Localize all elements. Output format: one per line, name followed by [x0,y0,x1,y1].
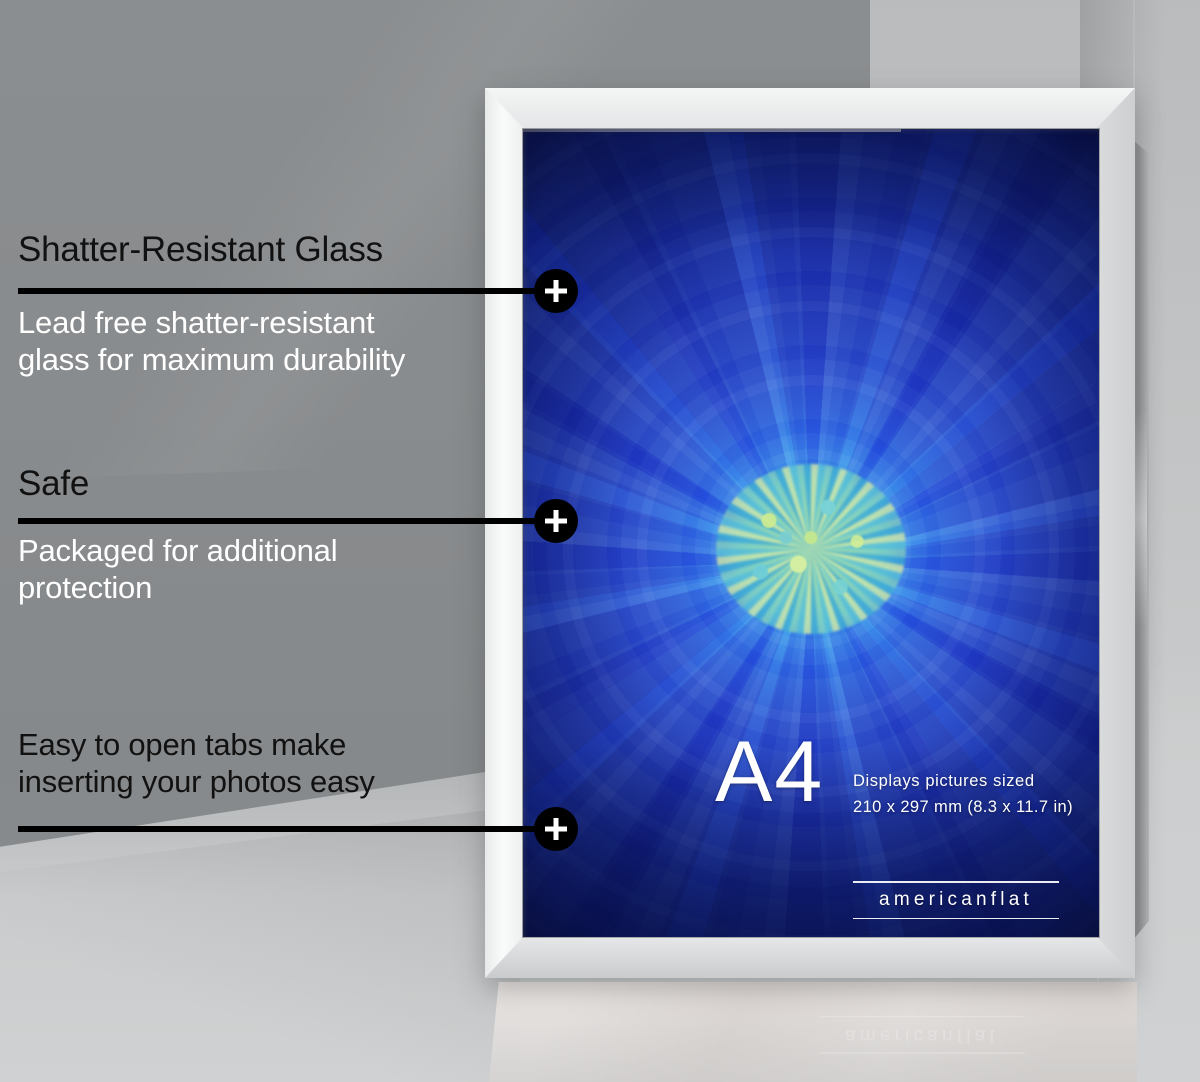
frame-inner-shadow [522,128,1100,938]
frame-bevel-bottom [485,936,1135,978]
callout-2-leader-line [18,518,558,524]
infographic-canvas: americanflat A4 [0,0,1200,1082]
frame-bevel-left [485,88,525,978]
callout-2-body-line-2: protection [18,570,337,607]
callout-1-body-line-2: glass for maximum durability [18,342,405,379]
callout-3-body-line-2: inserting your photos easy [18,764,375,801]
callout-1-plus-icon[interactable] [534,269,578,313]
frame-bevel-top [485,88,1135,130]
picture-frame: A4 Displays pictures sized 210 x 297 mm … [485,88,1140,978]
callout-safe: Safe [18,466,89,503]
callout-1-body: Lead free shatter-resistant glass for ma… [18,305,405,378]
frame-face: A4 Displays pictures sized 210 x 297 mm … [485,88,1135,978]
callout-shatter-resistant-glass: Shatter-Resistant Glass [18,232,383,269]
callout-1-heading: Shatter-Resistant Glass [18,232,383,269]
callout-1-leader-line [18,288,558,294]
callout-2-heading: Safe [18,466,89,503]
callout-3-leader-line [18,826,558,832]
callout-1-body-line-1: Lead free shatter-resistant [18,305,405,342]
callout-2-body-line-1: Packaged for additional [18,533,337,570]
callout-2-body: Packaged for additional protection [18,533,337,606]
callout-3-plus-icon[interactable] [534,807,578,851]
callout-2-plus-icon[interactable] [534,499,578,543]
callout-easy-open-tabs: Easy to open tabs make inserting your ph… [18,727,375,800]
frame-bevel-right [1095,88,1135,978]
callout-3-body-line-1: Easy to open tabs make [18,727,375,764]
reflection-fade [489,982,1137,1082]
frame-reflection: americanflat [489,982,1137,1082]
